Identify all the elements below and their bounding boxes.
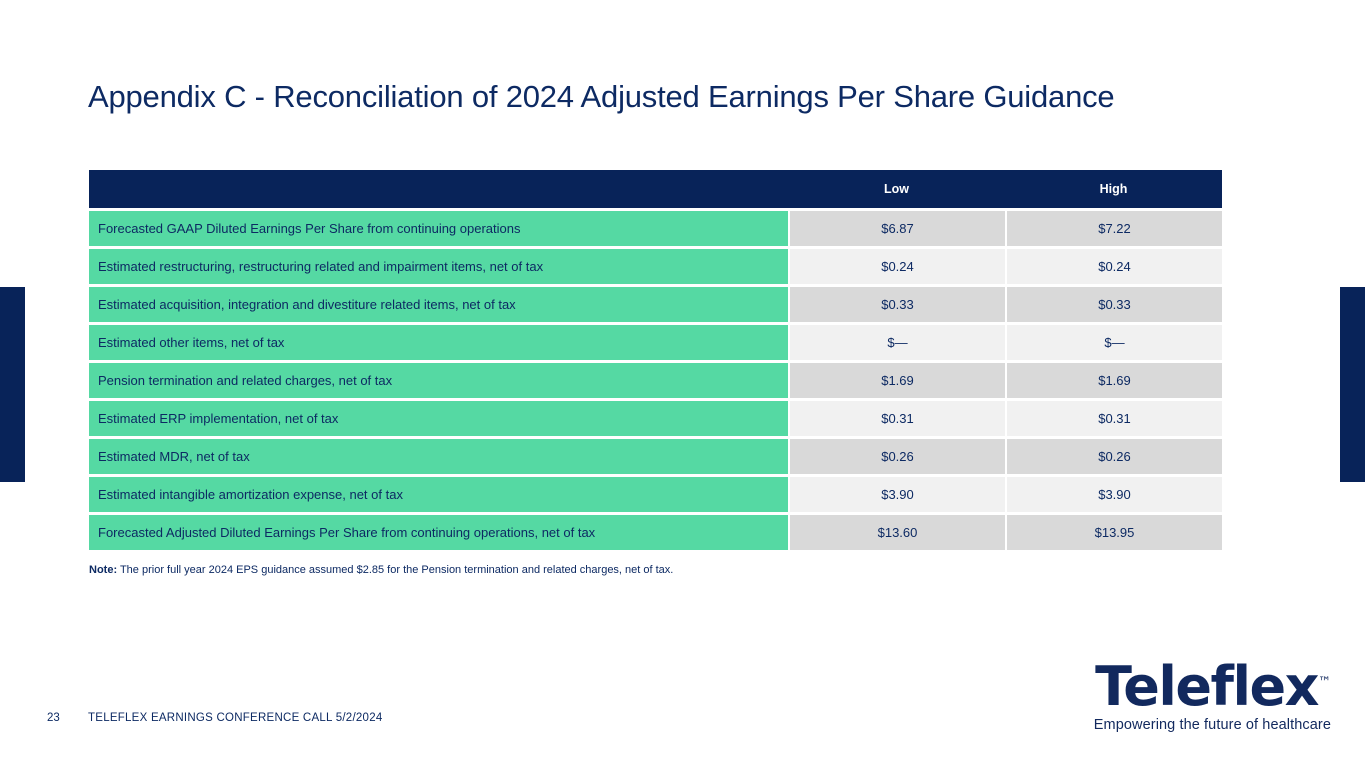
page-title: Appendix C - Reconciliation of 2024 Adju…: [88, 76, 1114, 118]
row-low-cell: $6.87: [788, 208, 1005, 246]
table-row: Forecasted GAAP Diluted Earnings Per Sha…: [89, 208, 1222, 246]
row-high-cell: $0.24: [1005, 246, 1222, 284]
row-high-cell: $0.31: [1005, 398, 1222, 436]
logo-tagline: Empowering the future of healthcare: [1094, 716, 1331, 734]
row-low-cell: $0.31: [788, 398, 1005, 436]
footnote-text: The prior full year 2024 EPS guidance as…: [117, 564, 673, 576]
row-high-cell: $7.22: [1005, 208, 1222, 246]
row-high-cell: $—: [1005, 322, 1222, 360]
table-row: Estimated other items, net of tax$—$—: [89, 322, 1222, 360]
table-row: Estimated acquisition, integration and d…: [89, 284, 1222, 322]
row-low-cell: $0.33: [788, 284, 1005, 322]
footnote-label: Note:: [89, 564, 117, 576]
row-low-cell: $13.60: [788, 512, 1005, 550]
table-header-row: Low High: [89, 170, 1222, 208]
logo-wordmark-label: Teleflex: [1095, 655, 1318, 718]
row-low-cell: $3.90: [788, 474, 1005, 512]
slide-canvas: Appendix C - Reconciliation of 2024 Adju…: [0, 0, 1365, 768]
table-row: Forecasted Adjusted Diluted Earnings Per…: [89, 512, 1222, 550]
row-label-cell: Estimated acquisition, integration and d…: [89, 284, 788, 322]
row-low-cell: $—: [788, 322, 1005, 360]
table-row: Pension termination and related charges,…: [89, 360, 1222, 398]
decorative-bar-left: [0, 287, 25, 482]
row-high-cell: $0.33: [1005, 284, 1222, 322]
column-header-low: Low: [788, 170, 1005, 208]
table-header: Low High: [89, 170, 1222, 208]
column-header-label: [89, 170, 788, 208]
row-low-cell: $1.69: [788, 360, 1005, 398]
decorative-bar-right: [1340, 287, 1365, 482]
trademark-icon: ™: [1318, 675, 1331, 690]
footer-caption: TELEFLEX EARNINGS CONFERENCE CALL 5/2/20…: [88, 712, 382, 724]
table-body: Forecasted GAAP Diluted Earnings Per Sha…: [89, 208, 1222, 550]
table-row: Estimated ERP implementation, net of tax…: [89, 398, 1222, 436]
row-label-cell: Estimated restructuring, restructuring r…: [89, 246, 788, 284]
table-row: Estimated intangible amortization expens…: [89, 474, 1222, 512]
row-label-cell: Estimated MDR, net of tax: [89, 436, 788, 474]
row-label-cell: Forecasted GAAP Diluted Earnings Per Sha…: [89, 208, 788, 246]
teleflex-logo: Teleflex™ Empowering the future of healt…: [1094, 655, 1331, 734]
table-row: Estimated MDR, net of tax$0.26$0.26: [89, 436, 1222, 474]
logo-wordmark-text: Teleflex™: [1094, 655, 1331, 715]
row-label-cell: Estimated intangible amortization expens…: [89, 474, 788, 512]
column-header-high: High: [1005, 170, 1222, 208]
row-low-cell: $0.26: [788, 436, 1005, 474]
footnote: Note: The prior full year 2024 EPS guida…: [89, 563, 673, 578]
row-high-cell: $3.90: [1005, 474, 1222, 512]
row-label-cell: Pension termination and related charges,…: [89, 360, 788, 398]
row-low-cell: $0.24: [788, 246, 1005, 284]
row-high-cell: $0.26: [1005, 436, 1222, 474]
page-number: 23: [47, 712, 60, 724]
row-high-cell: $1.69: [1005, 360, 1222, 398]
row-label-cell: Estimated other items, net of tax: [89, 322, 788, 360]
row-label-cell: Forecasted Adjusted Diluted Earnings Per…: [89, 512, 788, 550]
row-high-cell: $13.95: [1005, 512, 1222, 550]
eps-reconciliation-table: Low High Forecasted GAAP Diluted Earning…: [89, 170, 1222, 550]
table-row: Estimated restructuring, restructuring r…: [89, 246, 1222, 284]
row-label-cell: Estimated ERP implementation, net of tax: [89, 398, 788, 436]
